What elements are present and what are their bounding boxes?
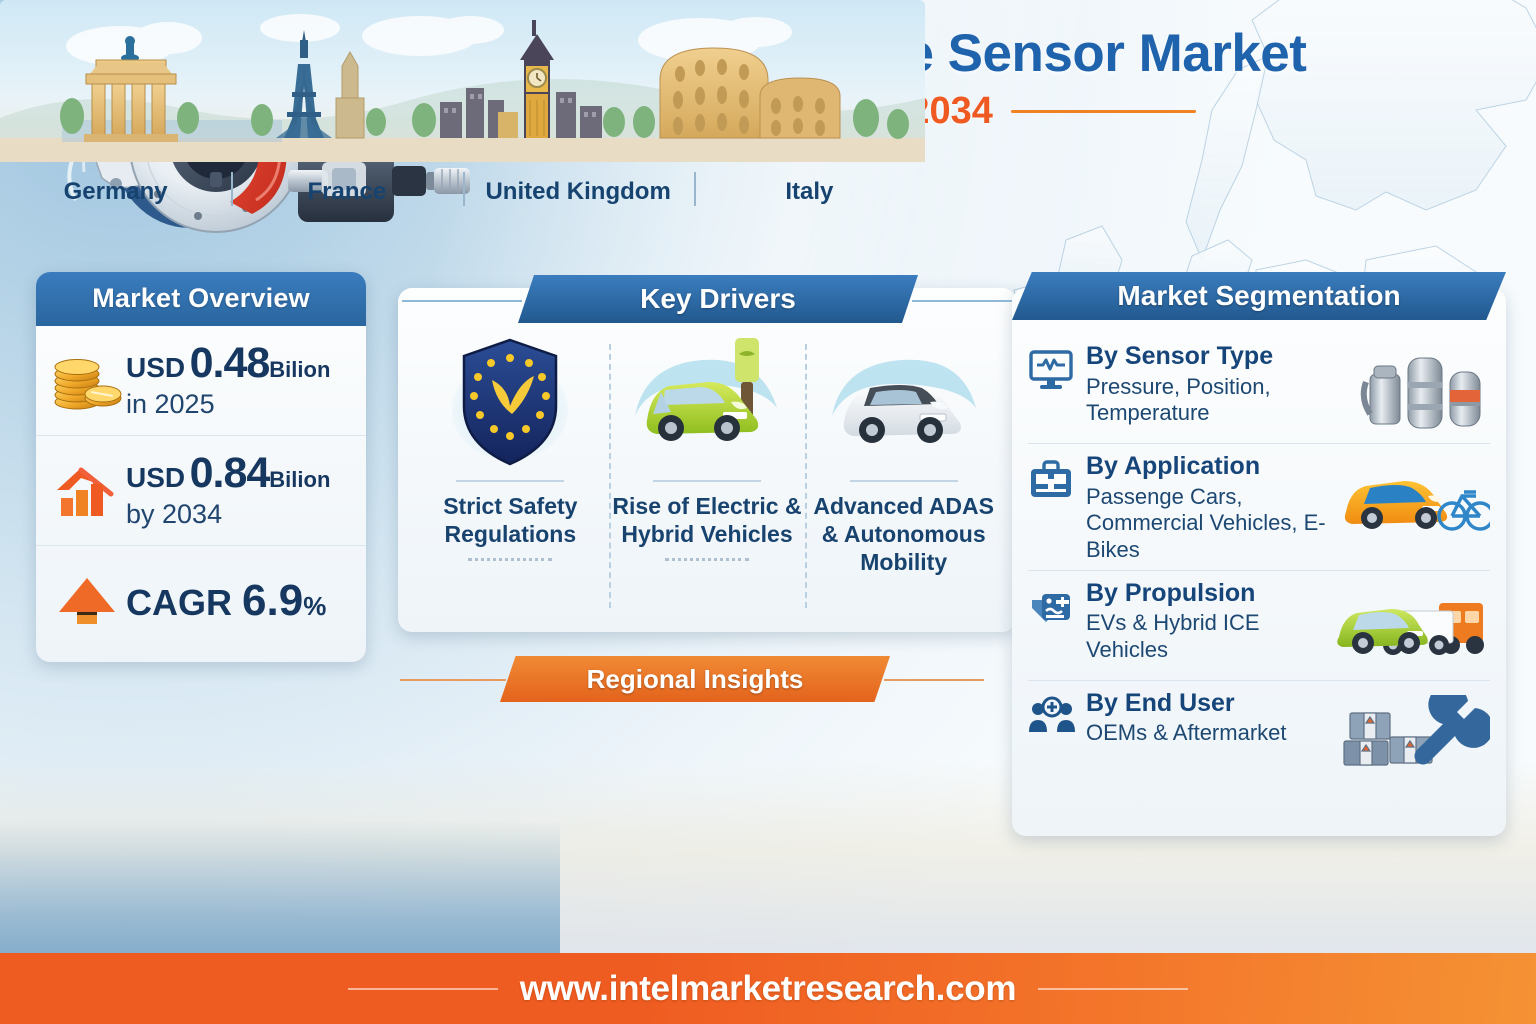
monitor-sensor-icon: [1028, 343, 1086, 396]
up-arrow-icon: [48, 570, 126, 632]
gold-coins-icon: [48, 350, 126, 412]
cagr-percent-sign: %: [303, 591, 326, 621]
sensor-cylinders-art-icon: [1360, 348, 1490, 438]
market-segmentation-panel: By Sensor Type Pressure, Position, Tempe…: [1012, 288, 1506, 836]
driver-divider-rule: [456, 480, 564, 482]
segment-desc-propulsion: EVs & Hybrid ICE Vehicles: [1086, 610, 1346, 664]
currency-label: USD: [126, 352, 185, 383]
unit-2034: Bilion: [269, 467, 330, 492]
footer-website-url[interactable]: www.intelmarketresearch.com: [520, 969, 1016, 1009]
regional-insights-panel: Germany France United Kingdom Italy: [0, 0, 925, 220]
users-plus-icon: [1028, 690, 1086, 743]
overview-row-cagr: CAGR 6.9%: [36, 546, 366, 656]
driver-divider-rule: [850, 480, 958, 482]
currency-label: USD: [126, 462, 185, 493]
key-drivers-rule-right: [912, 300, 1012, 302]
segment-desc-sensor-type: Pressure, Position, Temperature: [1086, 374, 1346, 428]
growth-chart-arrow-icon: [48, 460, 126, 522]
country-label-france: France: [231, 178, 462, 206]
segment-row-sensor-type: By Sensor Type Pressure, Position, Tempe…: [1028, 334, 1490, 444]
orange-car-and-bicycle-art-icon: [1340, 458, 1490, 538]
footer-rule-right: [1038, 988, 1188, 990]
segment-row-end-user: By End User OEMs & Aftermarket: [1028, 681, 1490, 791]
overview-value-2025: USD 0.48Bilion in 2025: [126, 342, 356, 420]
period-2034: by 2034: [126, 499, 356, 530]
footer-rule-left: [348, 988, 498, 990]
country-label-germany: Germany: [0, 178, 231, 206]
overview-value-2034: USD 0.84Bilion by 2034: [126, 452, 356, 530]
country-label-united-kingdom: United Kingdom: [463, 178, 694, 206]
driver-dotted-rule: [665, 558, 749, 561]
driver-label-adas: Advanced ADAS & Autonomous Mobility: [805, 492, 1002, 576]
boxes-and-wrench-art-icon: [1340, 695, 1490, 781]
regional-landmarks-scene: [0, 0, 925, 162]
key-drivers-panel: Strict Safety Regulations: [398, 288, 1016, 632]
regional-rule-left: [400, 679, 506, 681]
toolbox-icon: [1028, 453, 1086, 506]
electric-car-charging-icon: [627, 330, 787, 472]
white-car-adas-icon: [824, 330, 984, 472]
overview-row-2034: USD 0.84Bilion by 2034: [36, 436, 366, 546]
market-segmentation-heading: Market Segmentation: [1012, 272, 1506, 320]
european-landmarks-illustration-icon: [0, 0, 925, 162]
value-2025: 0.48: [190, 339, 270, 387]
green-car-van-truck-art-icon: [1335, 585, 1490, 665]
background-bottom-left-blue: [0, 820, 560, 960]
key-drivers-rule-left: [402, 300, 522, 302]
cagr-value: 6.9: [242, 576, 303, 625]
driver-item-safety: Strict Safety Regulations: [412, 330, 609, 618]
market-overview-panel: Market Overview: [36, 272, 366, 662]
country-label-italy: Italy: [694, 178, 925, 206]
segment-row-propulsion: By Propulsion EVs & Hybrid ICE Vehicles: [1028, 571, 1490, 681]
key-drivers-heading: Key Drivers: [518, 275, 918, 323]
tags-vehicle-icon: [1028, 580, 1086, 633]
infographic-canvas: Europe Hydraulic Brake Sensor Market Out…: [0, 0, 1536, 1024]
value-2034: 0.84: [190, 449, 270, 497]
driver-label-electric: Rise of Electric & Hybrid Vehicles: [609, 492, 806, 548]
regional-rule-right: [884, 679, 984, 681]
market-overview-heading: Market Overview: [36, 272, 366, 326]
footer-bar: www.intelmarketresearch.com: [0, 953, 1536, 1024]
driver-divider-rule: [653, 480, 761, 482]
unit-2025: Bilion: [269, 357, 330, 382]
segment-desc-application: Passenge Cars, Commercial Vehicles, E-Bi…: [1086, 484, 1346, 564]
driver-item-adas: Advanced ADAS & Autonomous Mobility: [805, 330, 1002, 618]
driver-label-safety: Strict Safety Regulations: [412, 492, 609, 548]
segment-row-application: By Application Passenge Cars, Commercial…: [1028, 444, 1490, 571]
cagr-label: CAGR: [126, 582, 232, 623]
subtitle-rule-right: [1011, 110, 1196, 113]
segment-desc-end-user: OEMs & Aftermarket: [1086, 720, 1346, 747]
overview-value-cagr: CAGR 6.9%: [126, 576, 356, 626]
driver-dotted-rule: [468, 558, 552, 561]
eu-shield-icon: [450, 330, 570, 472]
overview-row-2025: USD 0.48Bilion in 2025: [36, 326, 366, 436]
regional-insights-heading: Regional Insights: [500, 656, 890, 702]
driver-item-electric: Rise of Electric & Hybrid Vehicles: [609, 330, 806, 618]
period-2025: in 2025: [126, 389, 356, 420]
